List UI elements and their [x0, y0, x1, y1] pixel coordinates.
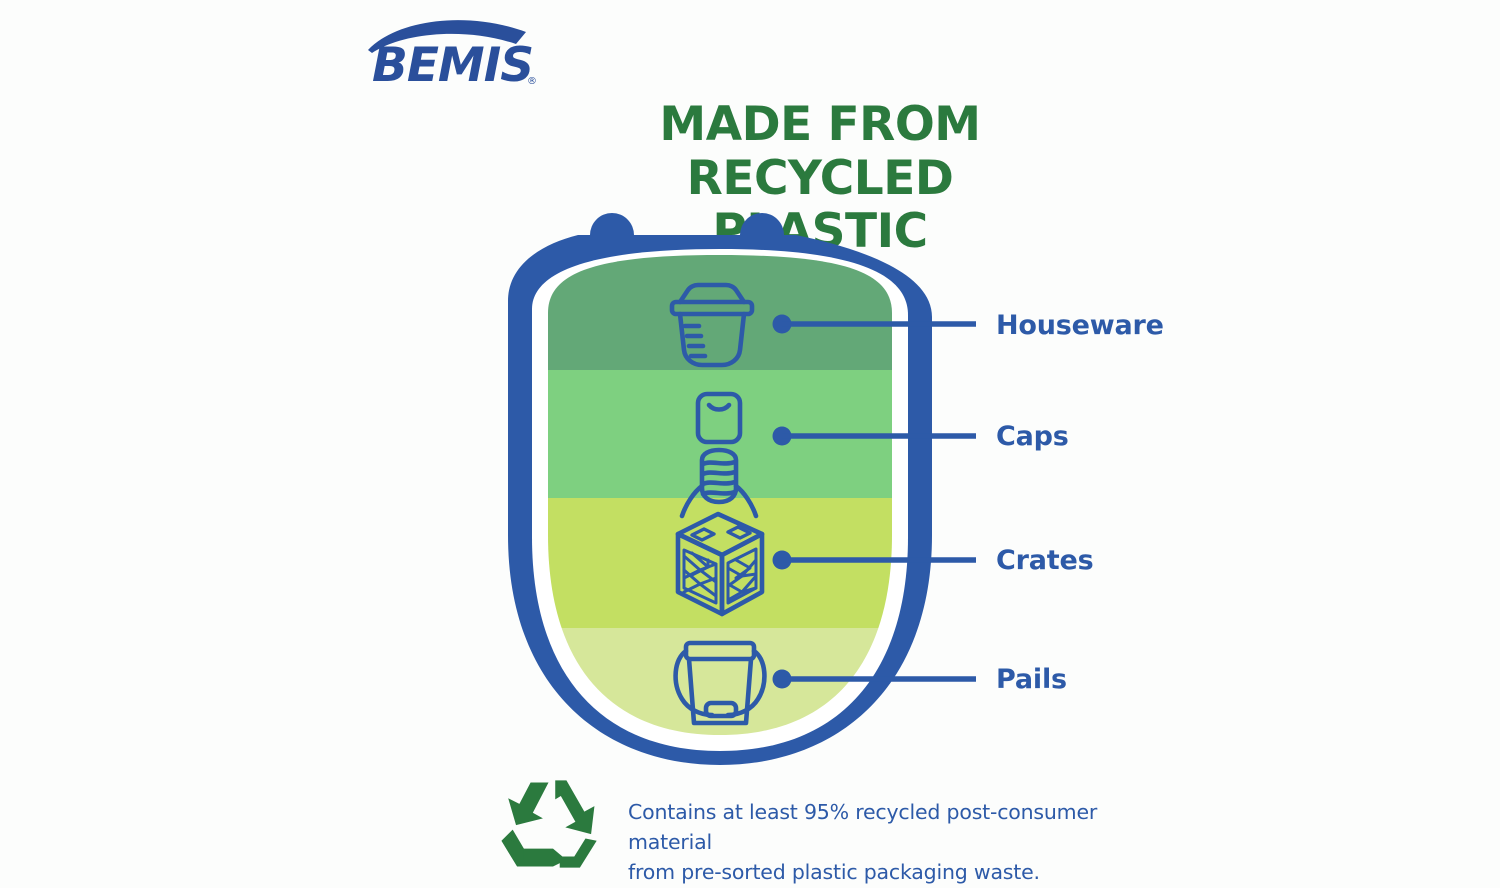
registered-mark: ® [527, 76, 537, 87]
infographic-canvas: BEMIS ® MADE FROM RECYCLED PLASTIC [0, 0, 1500, 880]
title-line-1: MADE FROM RECYCLED [659, 97, 980, 206]
footer-line-1: Contains at least 95% recycled post-cons… [628, 798, 1148, 858]
callout-crates: Crates [996, 540, 1093, 580]
callout-label-houseware: Houseware [996, 310, 1164, 341]
logo-wordmark: BEMIS [372, 42, 533, 89]
callout-label-crates: Crates [996, 545, 1093, 576]
callout-label-pails: Pails [996, 664, 1067, 695]
toilet-seat-diagram [490, 205, 950, 765]
callout-houseware: Houseware [996, 305, 1164, 345]
callout-pails: Pails [996, 659, 1067, 699]
callout-label-caps: Caps [996, 421, 1069, 452]
bemis-logo: BEMIS ® [366, 14, 546, 92]
callout-caps: Caps [996, 416, 1069, 456]
recycle-icon [497, 778, 609, 870]
footer-disclaimer: Contains at least 95% recycled post-cons… [628, 798, 1148, 888]
band-caps [530, 370, 910, 498]
footer-line-2: from pre-sorted plastic packaging waste. [628, 858, 1148, 888]
